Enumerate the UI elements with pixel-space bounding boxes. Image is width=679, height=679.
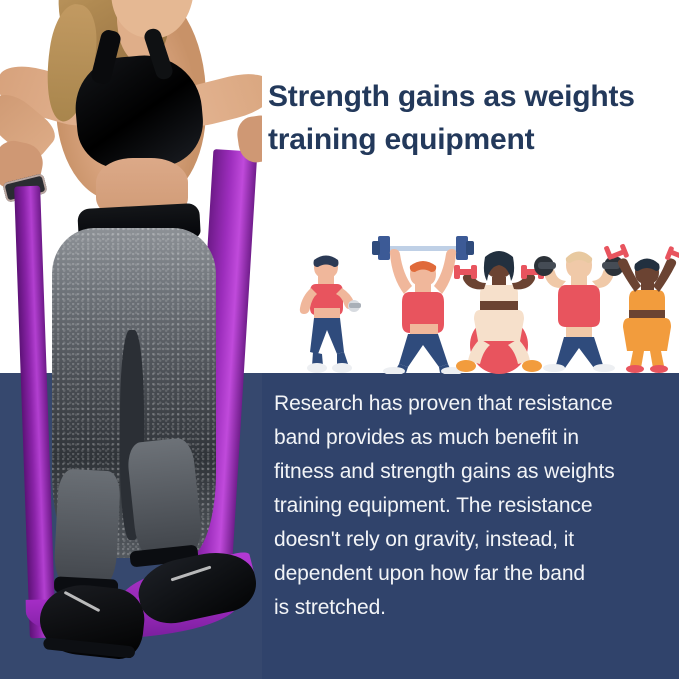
exercise-illustration-strip [286, 214, 679, 374]
description-line-6: dependent upon how far the band [274, 557, 665, 591]
description-text: Research has proven that resistance band… [274, 387, 665, 625]
figure-woman-with-dumbbell [292, 248, 366, 374]
model-left-shin [53, 468, 121, 591]
figure-woman-arms-raised [604, 234, 679, 374]
product-infographic: Strength gains as weights training equip… [0, 0, 679, 679]
headline: Strength gains as weights training equip… [268, 76, 672, 161]
description-line-1: Research has proven that resistance [274, 387, 665, 421]
headline-line-2: training equipment [268, 119, 672, 162]
product-photo [0, 0, 262, 679]
description-line-7: is stretched. [274, 591, 665, 625]
description-line-4: training equipment. The resistance [274, 489, 665, 523]
headline-line-1: Strength gains as weights [268, 76, 672, 119]
description-panel: Research has proven that resistance band… [262, 373, 679, 679]
description-line-3: fitness and strength gains as weights [274, 455, 665, 489]
description-line-5: doesn't rely on gravity, instead, it [274, 523, 665, 557]
description-line-2: band provides as much benefit in [274, 421, 665, 455]
